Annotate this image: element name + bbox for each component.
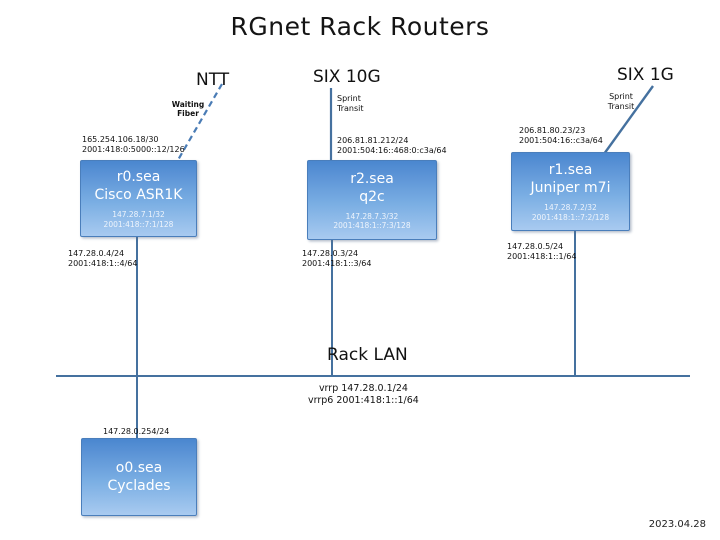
device-name-o0: o0.sea xyxy=(116,459,162,477)
uplink-address-six10g-v4: 206.81.81.212/24 xyxy=(337,136,447,146)
device-box-r0[interactable]: r0.sea Cisco ASR1K 147.28.7.1/32 2001:41… xyxy=(80,160,197,237)
lan-address-o0: 147.28.0.254/24 xyxy=(103,427,169,437)
uplink-note-six10g-line2: Transit xyxy=(337,104,364,114)
device-name-r0: r0.sea xyxy=(117,168,161,186)
uplink-note-six1g-line2: Transit xyxy=(597,102,645,112)
device-model-o0: Cyclades xyxy=(107,477,170,495)
device-model-r2: q2c xyxy=(359,188,385,206)
uplink-address-six10g: 206.81.81.212/24 2001:504:16::468:0:c3a/… xyxy=(337,136,447,156)
date-stamp: 2023.04.28 xyxy=(649,519,706,530)
device-loopback-r2: 147.28.7.3/32 2001:418:1::7:3/128 xyxy=(333,212,410,231)
vrrp-v6: vrrp6 2001:418:1::1/64 xyxy=(308,395,419,407)
lan-address-r1-v4: 147.28.0.5/24 xyxy=(507,242,576,252)
uplink-address-six1g-v4: 206.81.80.23/23 xyxy=(519,126,603,136)
device-model-r1: Juniper m7i xyxy=(531,179,611,197)
vrrp-annotation: vrrp 147.28.0.1/24 vrrp6 2001:418:1::1/6… xyxy=(308,383,419,407)
vrrp-v4: vrrp 147.28.0.1/24 xyxy=(308,383,419,395)
uplink-note-six10g: Sprint Transit xyxy=(337,94,364,114)
lan-address-r1: 147.28.0.5/24 2001:418:1::1/64 xyxy=(507,242,576,262)
device-loopback-r1-v6: 2001:418:1::7:2/128 xyxy=(532,213,609,223)
provider-label-six10g: SIX 10G xyxy=(313,67,381,87)
uplink-address-six10g-v6: 2001:504:16::468:0:c3a/64 xyxy=(337,146,447,156)
device-box-o0[interactable]: o0.sea Cyclades xyxy=(81,438,197,516)
device-name-r2: r2.sea xyxy=(350,170,394,188)
rack-lan-label: Rack LAN xyxy=(327,345,408,365)
uplink-note-six1g-line1: Sprint xyxy=(597,92,645,102)
device-box-r1[interactable]: r1.sea Juniper m7i 147.28.7.2/32 2001:41… xyxy=(511,152,630,231)
network-diagram: RGnet Rack Routers NTT SIX 10G SIX 1G Wa… xyxy=(0,0,720,540)
device-loopback-r0-v4: 147.28.7.1/32 xyxy=(104,210,174,220)
uplink-address-six1g: 206.81.80.23/23 2001:504:16::c3a/64 xyxy=(519,126,603,146)
lan-address-r0-v4: 147.28.0.4/24 xyxy=(68,249,137,259)
lan-address-r2-v4: 147.28.0.3/24 xyxy=(302,249,371,259)
device-box-r2[interactable]: r2.sea q2c 147.28.7.3/32 2001:418:1::7:3… xyxy=(307,160,437,240)
uplink-note-ntt: Waiting Fiber xyxy=(160,100,216,118)
device-loopback-r1: 147.28.7.2/32 2001:418:1::7:2/128 xyxy=(532,203,609,222)
lan-address-r2-v6: 2001:418:1::3/64 xyxy=(302,259,371,269)
uplink-address-six1g-v6: 2001:504:16::c3a/64 xyxy=(519,136,603,146)
uplink-address-ntt-v6: 2001:418:0:5000::12/126 xyxy=(82,145,185,155)
device-loopback-r2-v6: 2001:418:1::7:3/128 xyxy=(333,221,410,231)
page-title: RGnet Rack Routers xyxy=(0,12,720,41)
provider-label-ntt: NTT xyxy=(196,70,229,90)
lan-address-o0-v4: 147.28.0.254/24 xyxy=(103,427,169,437)
device-loopback-r0: 147.28.7.1/32 2001:418::7:1/128 xyxy=(104,210,174,229)
uplink-address-ntt: 165.254.106.18/30 2001:418:0:5000::12/12… xyxy=(82,135,185,155)
uplink-note-six10g-line1: Sprint xyxy=(337,94,364,104)
uplink-note-six1g: Sprint Transit xyxy=(597,92,645,112)
device-loopback-r0-v6: 2001:418::7:1/128 xyxy=(104,220,174,230)
lan-address-r0-v6: 2001:418:1::4/64 xyxy=(68,259,137,269)
uplink-address-ntt-v4: 165.254.106.18/30 xyxy=(82,135,185,145)
provider-label-six1g: SIX 1G xyxy=(617,65,674,85)
device-model-r0: Cisco ASR1K xyxy=(95,186,183,204)
uplink-note-ntt-line1: Waiting xyxy=(160,100,216,109)
device-loopback-r1-v4: 147.28.7.2/32 xyxy=(532,203,609,213)
lan-address-r0: 147.28.0.4/24 2001:418:1::4/64 xyxy=(68,249,137,269)
device-loopback-r2-v4: 147.28.7.3/32 xyxy=(333,212,410,222)
lan-address-r2: 147.28.0.3/24 2001:418:1::3/64 xyxy=(302,249,371,269)
device-name-r1: r1.sea xyxy=(549,161,593,179)
lan-address-r1-v6: 2001:418:1::1/64 xyxy=(507,252,576,262)
uplink-note-ntt-line2: Fiber xyxy=(160,109,216,118)
rack-lan-bus xyxy=(56,375,690,377)
